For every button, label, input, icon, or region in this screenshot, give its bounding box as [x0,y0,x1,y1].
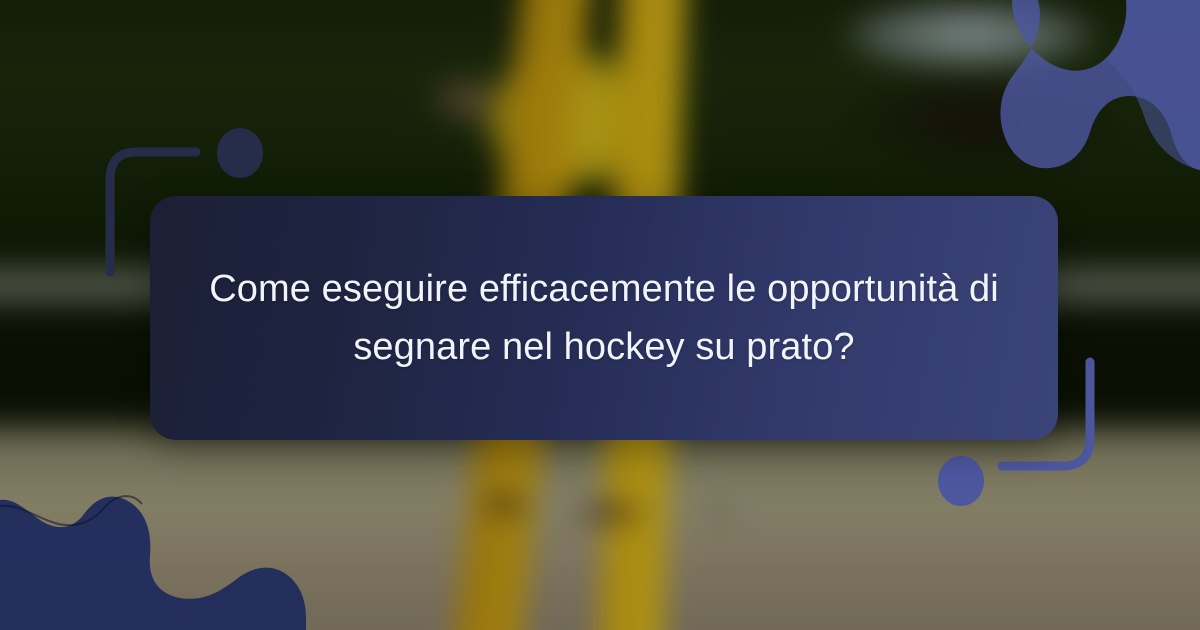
quote-question-text: Come eseguire efficacemente le opportuni… [204,260,1004,376]
quote-card: Come eseguire efficacemente le opportuni… [150,196,1058,440]
social-card-canvas: Come eseguire efficacemente le opportuni… [0,0,1200,630]
